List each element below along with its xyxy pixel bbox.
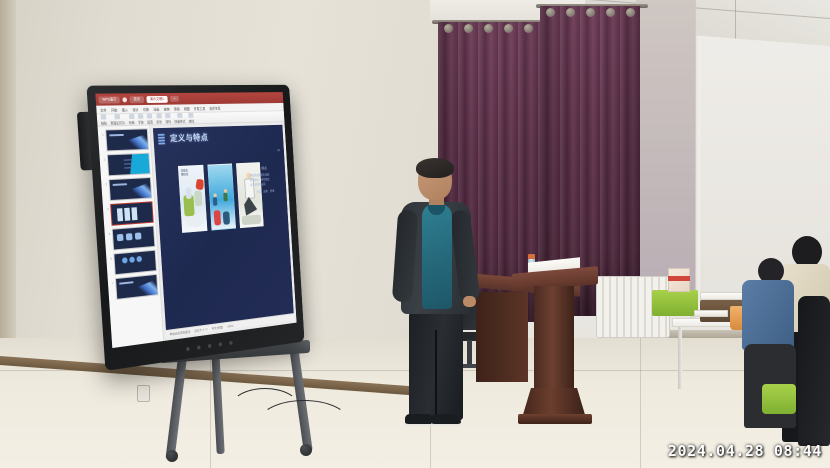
- interactive-display[interactable]: WPS演示 首页 演示文稿1 + 文件 开始 插入 设计 切换 动画 放映 审阅: [86, 85, 304, 371]
- thumbnail-preview-3[interactable]: [108, 177, 152, 201]
- thumbnail-item[interactable]: 7: [110, 274, 159, 301]
- tab-home[interactable]: 首页: [130, 96, 144, 103]
- green-storage-bin: [652, 290, 698, 316]
- status-language[interactable]: 中文(中国): [212, 325, 224, 330]
- illustration-panel-1: 智能化 便捷化: [178, 165, 207, 233]
- wall-outlet: [137, 385, 150, 402]
- menu-transition[interactable]: 切换: [143, 106, 149, 111]
- thumbnail-item[interactable]: 3: [103, 177, 152, 201]
- ribbon-font[interactable]: 字体: [137, 114, 143, 125]
- menu-slideshow[interactable]: 放映: [163, 106, 169, 111]
- thumbnail-preview-7[interactable]: [115, 274, 158, 300]
- ribbon-paste[interactable]: 粘贴: [100, 115, 107, 126]
- photo-scene: WPS演示 首页 演示文稿1 + 文件 开始 插入 设计 切换 动画 放映 审阅: [0, 0, 830, 468]
- thumbnail-item[interactable]: 4: [105, 201, 154, 226]
- ribbon-layout-label: 布局: [129, 120, 135, 125]
- ribbon-paste-label: 粘贴: [101, 120, 107, 125]
- menu-view[interactable]: 视图: [184, 106, 190, 111]
- thumbnail-number: 7: [110, 278, 114, 285]
- ribbon-shape-label: 形状: [156, 119, 162, 124]
- menu-review[interactable]: 审阅: [174, 106, 180, 111]
- status-slide-count: 幻灯片 4 / 7: [194, 327, 207, 333]
- ribbon-find[interactable]: 查找: [188, 113, 194, 124]
- display-bezel: WPS演示 首页 演示文稿1 + 文件 开始 插入 设计 切换 动画 放映 审阅: [86, 85, 304, 371]
- slide-text-line-3: 多渠道协同运营: [250, 181, 280, 187]
- ribbon-paragraph-label: 段落: [147, 119, 153, 124]
- gift-ribbon: [668, 276, 690, 281]
- slide-tag-2: 高效: [263, 190, 268, 194]
- bottle-cap: [528, 254, 535, 259]
- display-screen[interactable]: WPS演示 首页 演示文稿1 + 文件 开始 插入 设计 切换 动画 放映 审阅: [95, 92, 296, 348]
- slide-editor-area[interactable]: 定义与特点 04 智能化 便捷化: [150, 122, 297, 341]
- presenter: [385, 160, 485, 440]
- menu-developer[interactable]: 开发工具: [194, 106, 206, 111]
- menu-member[interactable]: 会员专享: [209, 105, 220, 110]
- slide-tag-row: 安全 高效 普惠: [250, 189, 280, 195]
- window-panel-right: [636, 0, 696, 300]
- app-body: 1 2 3 4: [98, 122, 297, 348]
- status-notes-hint[interactable]: 单击此处添加备注: [170, 329, 191, 336]
- ribbon-arrange[interactable]: 排列: [165, 113, 171, 124]
- menu-design[interactable]: 设计: [132, 107, 138, 112]
- slide-number-badge: 04: [277, 148, 280, 152]
- tab-presentation-1[interactable]: 演示文稿1: [146, 95, 168, 102]
- slide-text-block: 特点 便捷快速的服务体验 技术驱动、场景融合 多渠道协同运营 安全 高效 普惠: [249, 165, 280, 194]
- ribbon-shape[interactable]: 形状: [156, 113, 162, 124]
- ribbon-find-label: 查找: [188, 119, 194, 124]
- slide-title: 定义与特点: [170, 131, 209, 144]
- thumbnail-number: 3: [103, 179, 107, 186]
- illustration-panel-2: [207, 163, 236, 230]
- slide-tag-1: 安全: [256, 190, 261, 194]
- thumbnail-number: 2: [101, 154, 105, 161]
- ribbon-layout[interactable]: 布局: [128, 114, 134, 125]
- menu-file[interactable]: 文件: [100, 107, 107, 112]
- thumbnail-preview-6[interactable]: [113, 250, 156, 276]
- slide-text-heading: 特点: [249, 165, 279, 171]
- tv-stand-caster-left: [166, 450, 178, 462]
- paper-stack: [694, 310, 728, 317]
- ribbon-quick-style[interactable]: 快速样式: [174, 113, 186, 124]
- tab-new[interactable]: +: [170, 96, 179, 102]
- front-table-leg-left: [678, 327, 682, 389]
- ribbon-arrange-label: 排列: [165, 119, 171, 124]
- status-zoom-level[interactable]: 100%: [227, 323, 233, 328]
- thumbnail-item[interactable]: 2: [101, 153, 150, 177]
- ribbon-new-slide[interactable]: 新建幻灯片: [110, 114, 125, 125]
- thumbnail-preview-5[interactable]: [112, 226, 156, 251]
- thumbnail-item[interactable]: 6: [108, 250, 157, 276]
- thumbnail-preview-4-selected[interactable]: [110, 201, 154, 226]
- illustration-caption-1: 智能化 便捷化: [181, 168, 189, 176]
- ribbon-paragraph[interactable]: 段落: [147, 114, 153, 125]
- green-chair-seat: [762, 384, 796, 414]
- power-cable-2: [258, 400, 350, 446]
- thumbnail-number: 1: [100, 130, 104, 137]
- thumbnail-item[interactable]: 1: [100, 128, 149, 151]
- thumbnail-preview-1[interactable]: [105, 128, 149, 151]
- app-name-chip: WPS演示: [98, 96, 120, 103]
- ribbon-new-slide-label: 新建幻灯片: [110, 120, 125, 125]
- slide-title-decor: [158, 134, 166, 144]
- lectern: [520, 270, 590, 430]
- menu-animation[interactable]: 动画: [153, 106, 159, 111]
- slide-tag-3: 普惠: [270, 189, 275, 193]
- audience-person-3: [798, 296, 830, 446]
- timestamp-watermark: 2024.04.28 08:44: [668, 442, 822, 460]
- ribbon-font-label: 字体: [138, 120, 144, 125]
- ribbon-quick-style-label: 快速样式: [174, 119, 185, 124]
- thumbnail-preview-2[interactable]: [107, 153, 151, 177]
- menu-home[interactable]: 开始: [111, 107, 118, 112]
- thumbnail-number: 5: [106, 229, 110, 236]
- menu-insert[interactable]: 插入: [122, 107, 128, 112]
- app-logo-dot: [123, 97, 128, 102]
- curtain-grommets-right: [540, 8, 640, 20]
- thumbnail-number: 6: [108, 254, 112, 261]
- thumbnail-item[interactable]: 5: [106, 226, 155, 251]
- current-slide[interactable]: 定义与特点 04 智能化 便捷化: [153, 125, 294, 330]
- thumbnail-number: 4: [105, 204, 109, 211]
